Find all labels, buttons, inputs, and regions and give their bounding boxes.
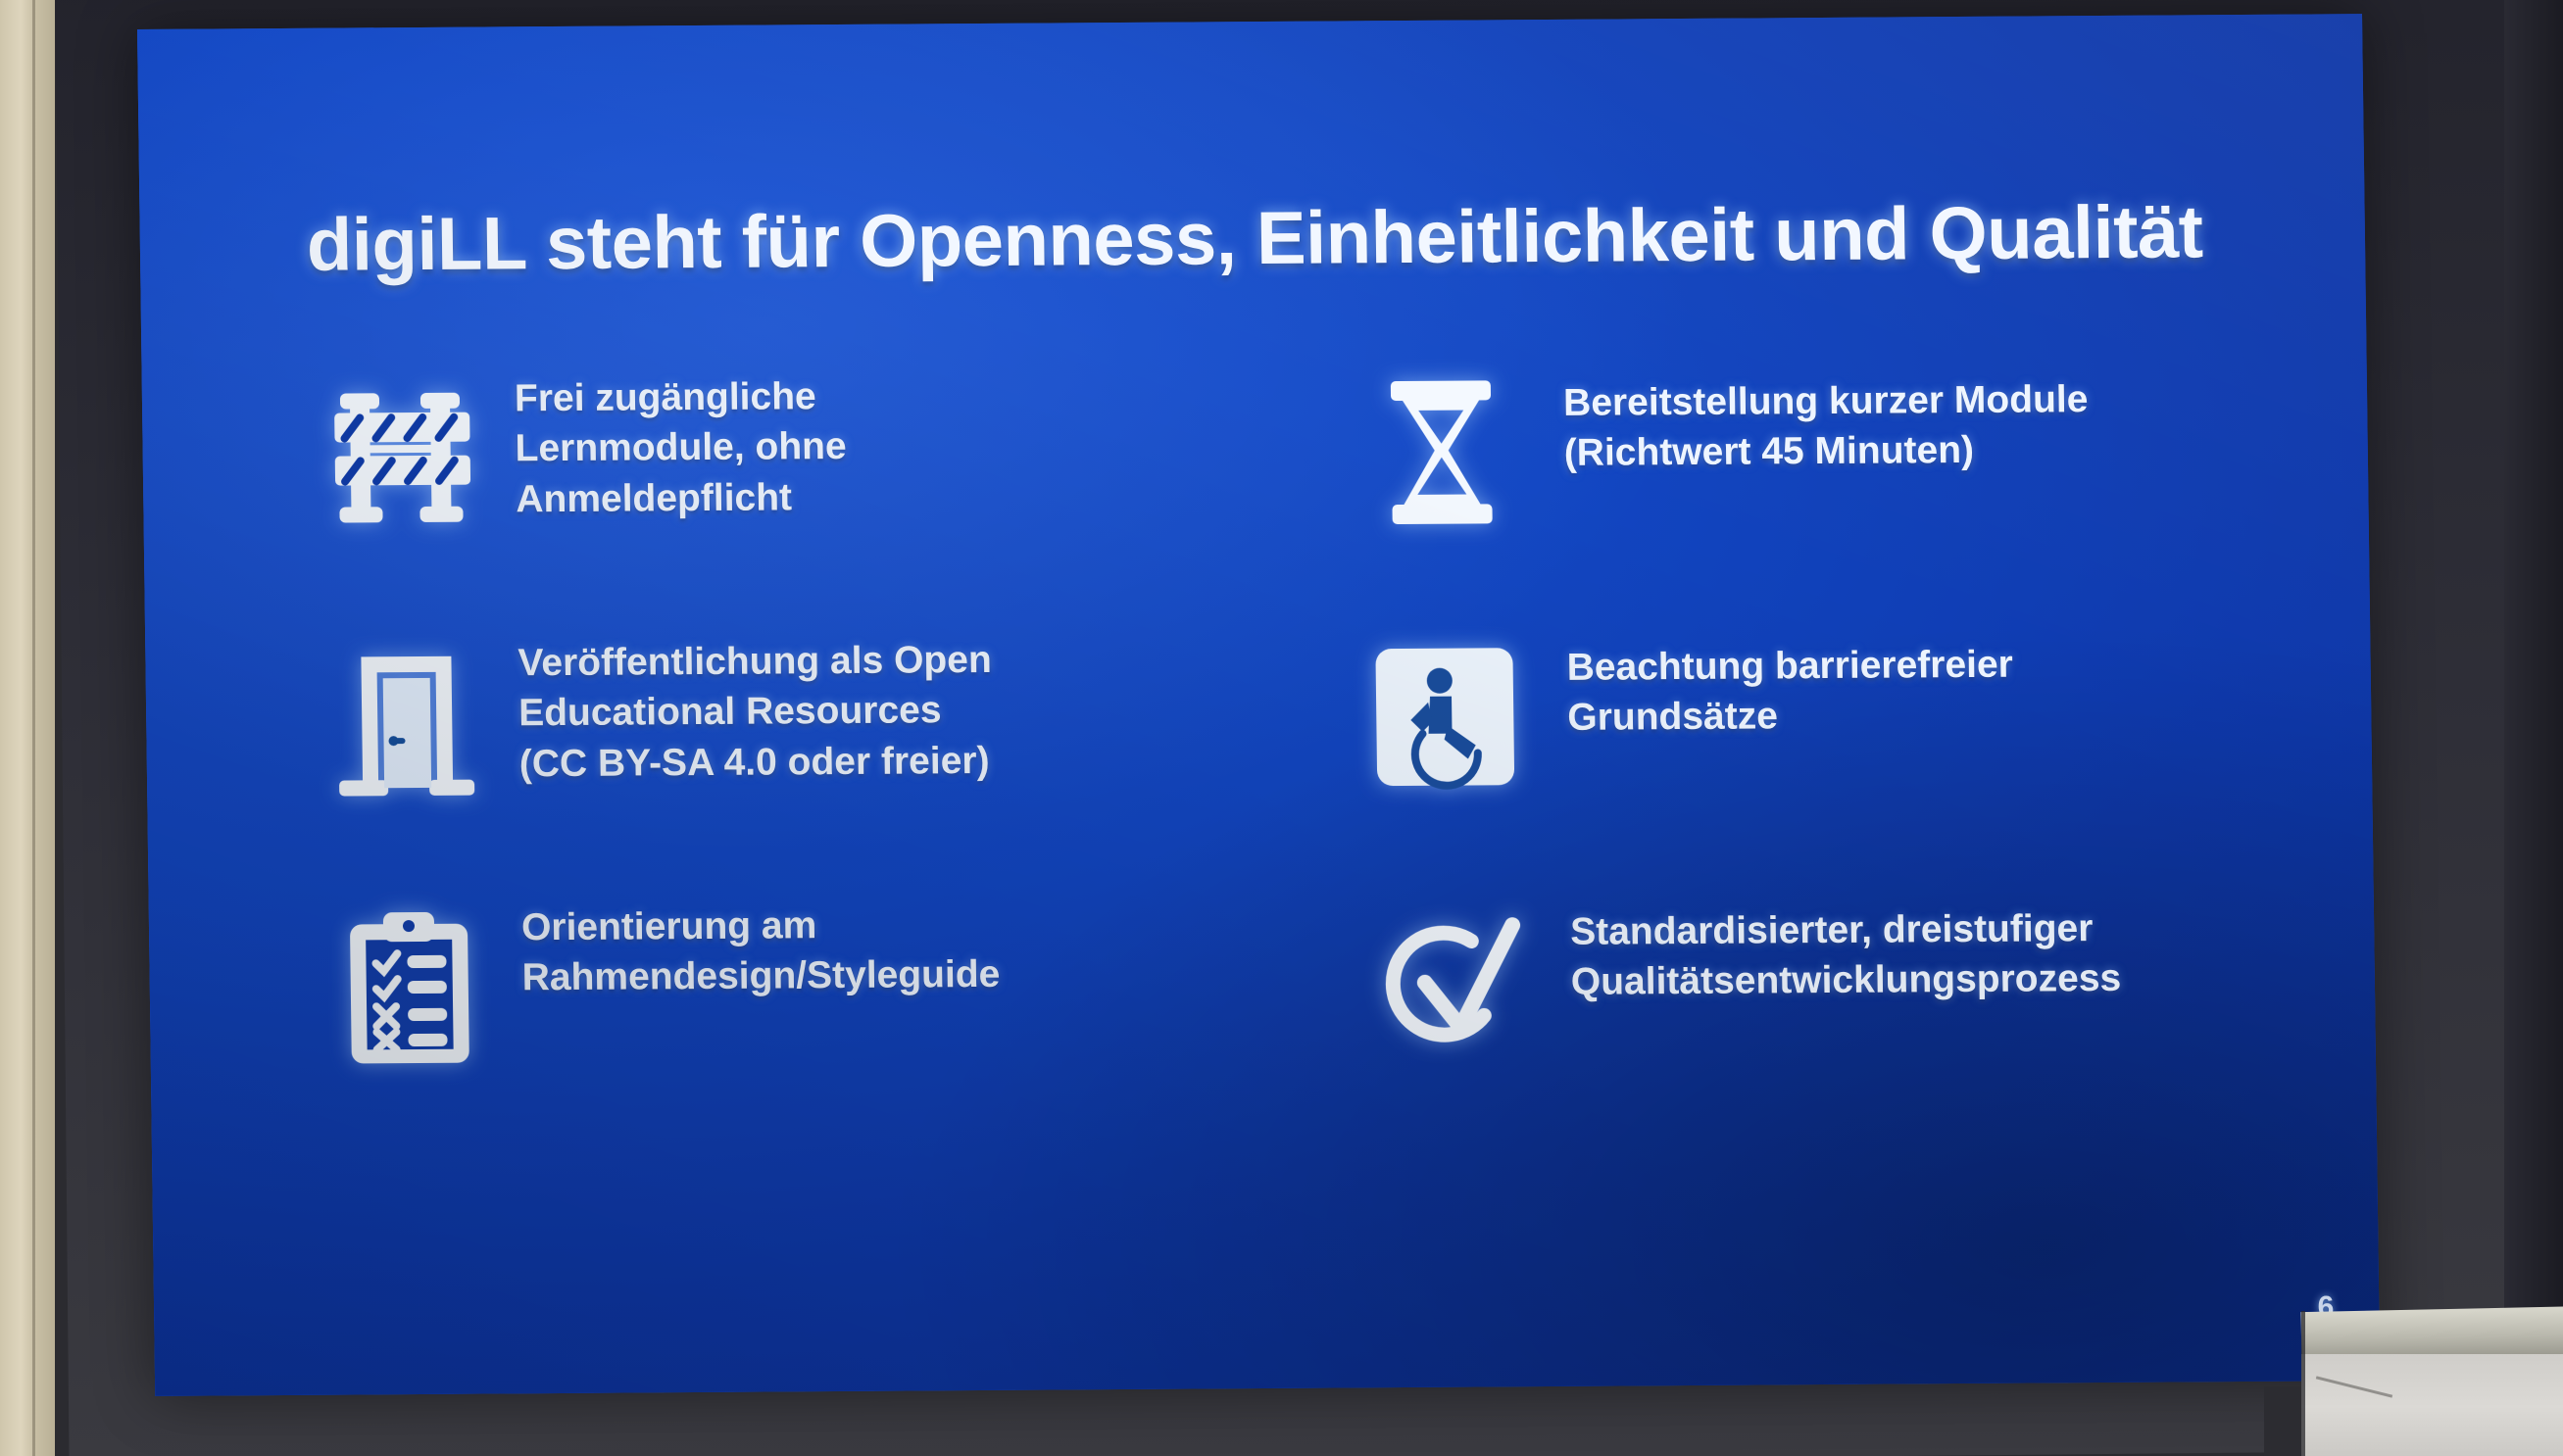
feature-line: Standardisierter, dreistufiger bbox=[1570, 903, 2121, 957]
wheelchair-accessibility-icon bbox=[1321, 617, 1569, 811]
feature-line: Veröffentlichung als Open bbox=[518, 635, 992, 689]
feature-line: Educational Resources bbox=[518, 685, 993, 739]
flipchart-sheet bbox=[2301, 1354, 2563, 1456]
feature-line: Frei zugängliche bbox=[515, 371, 847, 424]
feature-line: (Richtwert 45 Minuten) bbox=[1563, 425, 2089, 479]
feature-text-oer-license: Veröffentlichung als Open Educational Re… bbox=[518, 621, 993, 790]
hourglass-icon bbox=[1317, 353, 1565, 547]
feature-line: Beachtung barrierefreier bbox=[1566, 640, 2013, 694]
slide-title: digiLL steht für Openness, Einheitlichke… bbox=[306, 193, 2267, 285]
wall-strip-left bbox=[0, 0, 55, 1456]
open-door-icon bbox=[292, 624, 520, 818]
feature-line: Orientierung am bbox=[521, 899, 1000, 953]
feature-line: Rahmendesign/Styleguide bbox=[521, 949, 1000, 1003]
slide-content-grid: Frei zugängliche Lernmodule, ohne Anmeld… bbox=[288, 348, 2318, 1155]
projected-slide: digiLL steht für Openness, Einheitlichke… bbox=[137, 14, 2380, 1396]
flipchart-foreground bbox=[2301, 1303, 2563, 1456]
road-barrier-icon bbox=[288, 360, 517, 554]
feature-line: Lernmodule, ohne bbox=[515, 421, 847, 474]
projection-scene: digiLL steht für Openness, Einheitlichke… bbox=[0, 0, 2563, 1456]
feature-line: Bereitstellung kurzer Module bbox=[1563, 374, 2089, 428]
feature-item-free-access: Frei zugängliche Lernmodule, ohne Anmeld… bbox=[288, 355, 1282, 626]
feature-line: (CC BY-SA 4.0 oder freier) bbox=[519, 736, 994, 790]
feature-item-quality-process: Standardisierter, dreistufiger Qualitäts… bbox=[1325, 876, 2319, 1147]
screen-bezel-right bbox=[2504, 0, 2563, 1456]
feature-text-styleguide: Orientierung am Rahmendesign/Styleguide bbox=[521, 886, 1001, 1003]
feature-line: Anmeldepflicht bbox=[516, 472, 848, 525]
slide-canvas: digiLL steht für Openness, Einheitlichke… bbox=[137, 14, 2380, 1396]
feature-item-short-modules: Bereitstellung kurzer Module (Richtwert … bbox=[1317, 348, 2311, 619]
cycle-checkmark-icon bbox=[1325, 882, 1573, 1076]
feature-text-quality-process: Standardisierter, dreistufiger Qualitäts… bbox=[1570, 878, 2122, 1008]
clipboard-checklist-icon bbox=[296, 889, 524, 1083]
feature-line: Grundsätze bbox=[1567, 690, 2014, 744]
feature-text-accessibility: Beachtung barrierefreier Grundsätze bbox=[1566, 614, 2014, 744]
feature-line: Qualitätsentwicklungsprozess bbox=[1571, 953, 2122, 1007]
flipchart-edge bbox=[2301, 1311, 2305, 1456]
feature-text-free-access: Frei zugängliche Lernmodule, ohne Anmeld… bbox=[514, 358, 847, 525]
feature-item-styleguide: Orientierung am Rahmendesign/Styleguide bbox=[296, 884, 1290, 1155]
feature-item-oer-license: Veröffentlichung als Open Educational Re… bbox=[292, 619, 1286, 891]
feature-item-accessibility: Beachtung barrierefreier Grundsätze bbox=[1321, 612, 2315, 884]
feature-text-short-modules: Bereitstellung kurzer Module (Richtwert … bbox=[1562, 349, 2089, 479]
